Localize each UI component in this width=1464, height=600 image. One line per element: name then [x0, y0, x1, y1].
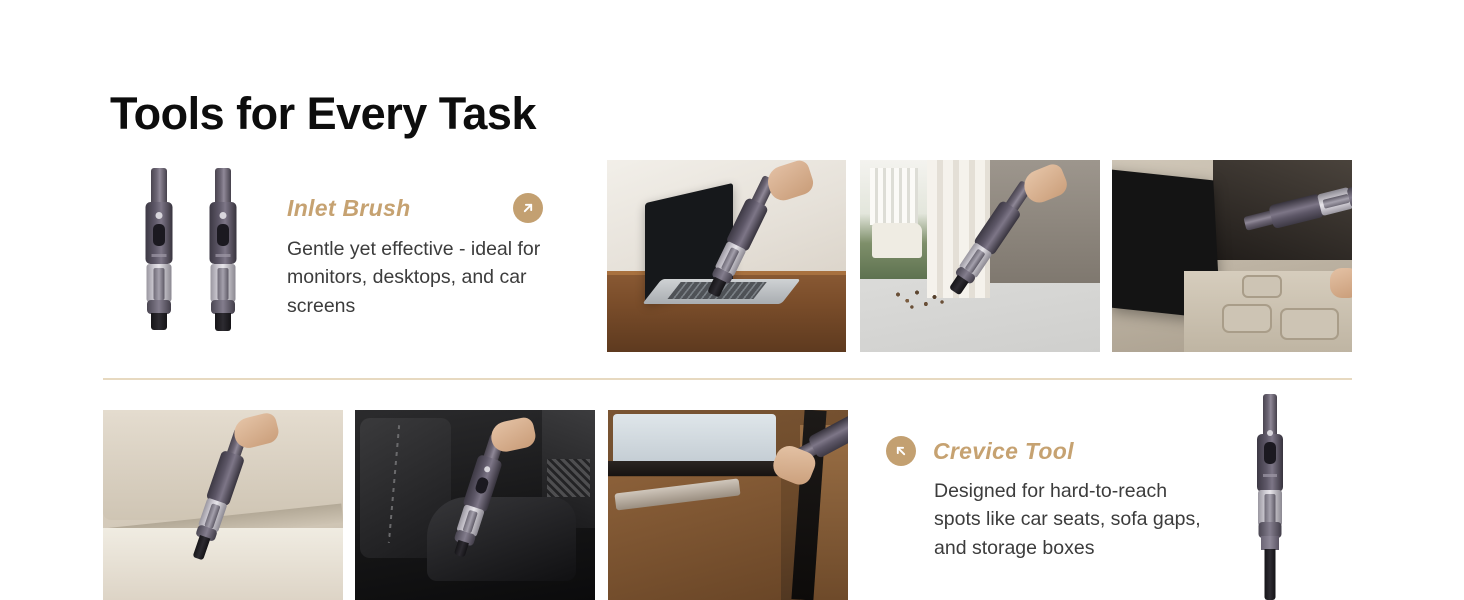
crevice-tool-title-row: Crevice Tool: [886, 436, 1216, 466]
vacuum-nozzle-joint: [147, 300, 171, 314]
arrow-up-left-icon[interactable]: [886, 436, 916, 466]
vacuum-brand-mark: [152, 254, 167, 257]
photo-vacuuming-floor-crumbs: [860, 160, 1100, 352]
vacuum-filter-core: [1265, 494, 1276, 524]
vacuum-tube: [151, 168, 167, 206]
photo-vacuuming-car-console: [1112, 160, 1352, 352]
vacuum-display: [153, 224, 165, 246]
photo-content: [1112, 160, 1352, 352]
photo-vacuuming-car-door-panel: [608, 410, 848, 600]
crevice-nozzle-shaft: [1265, 549, 1276, 600]
section-divider: [103, 378, 1352, 380]
vacuum-power-button: [220, 212, 227, 219]
vacuum-brush-tip: [151, 313, 167, 330]
vacuum-brand-mark: [216, 254, 231, 257]
crevice-nozzle-collar: [1261, 536, 1279, 550]
product-image-inlet-brush-unit-1: [141, 168, 177, 330]
product-image-inlet-brush-unit-2: [205, 168, 241, 330]
page-title: Tools for Every Task: [110, 89, 536, 139]
photo-vacuuming-car-seat: [355, 410, 595, 600]
product-image-crevice-tool-unit: [1252, 394, 1288, 600]
vacuum-display: [1264, 442, 1276, 464]
photo-vacuuming-laptop: [607, 160, 846, 352]
vacuum-nozzle-joint: [211, 300, 235, 314]
hand-in-scene: [1330, 268, 1352, 298]
product-feature-page: Tools for Every Task Inlet Brush: [0, 0, 1464, 600]
inlet-brush-text-block: Inlet Brush Gentle yet effective - ideal…: [287, 193, 557, 320]
vacuum-filter-core: [218, 268, 229, 300]
vacuum-display: [217, 224, 229, 246]
crevice-tool-description: Designed for hard-to-reach spots like ca…: [934, 477, 1216, 562]
photo-vacuuming-sofa-gap: [103, 410, 343, 600]
inlet-brush-title: Inlet Brush: [287, 195, 410, 222]
vacuum-power-button: [156, 212, 163, 219]
inlet-brush-title-row: Inlet Brush: [287, 193, 557, 223]
crevice-tool-title: Crevice Tool: [933, 438, 1074, 465]
vacuum-filter-core: [154, 268, 165, 300]
inlet-brush-description: Gentle yet effective - ideal for monitor…: [287, 235, 557, 320]
vacuum-brand-mark: [1263, 474, 1277, 477]
vacuum-brush-tip: [215, 313, 231, 331]
vacuum-tube: [215, 168, 231, 206]
crevice-tool-text-block: Crevice Tool Designed for hard-to-reach …: [886, 436, 1216, 562]
arrow-up-right-icon[interactable]: [513, 193, 543, 223]
vacuum-power-button: [1267, 430, 1273, 436]
